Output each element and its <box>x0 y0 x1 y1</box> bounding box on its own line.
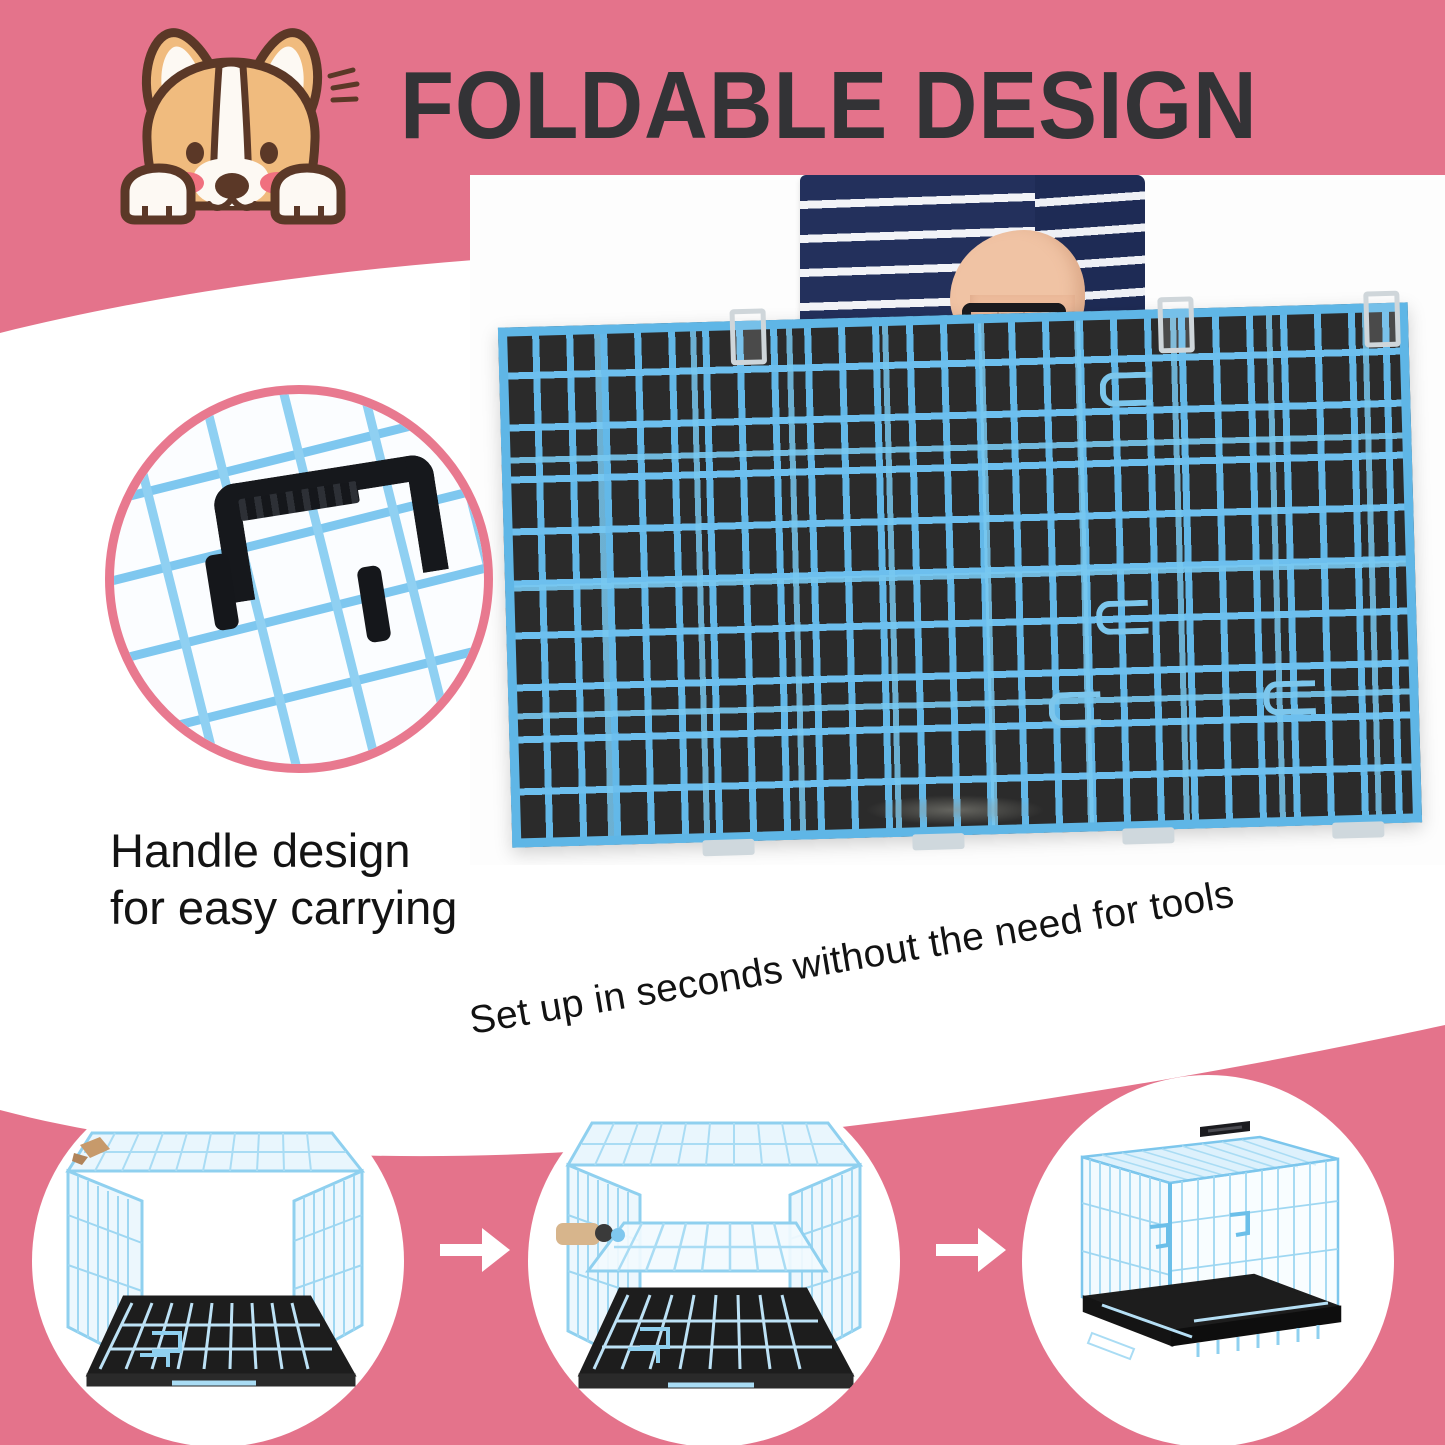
crate-latch <box>729 308 767 365</box>
step-crate-assembled <box>1022 1075 1394 1445</box>
crate-door-hook <box>1099 372 1152 407</box>
corgi-dog-logo <box>95 20 370 230</box>
step-crate-unfolded-open <box>32 1075 404 1445</box>
arrow-step2-to-step3 <box>936 1222 1008 1278</box>
crate-door-hook <box>1048 691 1101 726</box>
crate-door-hook <box>1263 680 1316 715</box>
crate-foot <box>702 839 754 856</box>
crate-foot <box>1332 821 1384 838</box>
handle-caption-line-2: for easy carrying <box>110 879 530 936</box>
step-circle-2 <box>528 1075 900 1445</box>
step-circle-3 <box>1022 1075 1394 1445</box>
crate-latch <box>1157 296 1195 353</box>
crate-shadow <box>865 795 1045 825</box>
handle-caption-line-1: Handle design <box>110 822 530 879</box>
step-crate-door-lifting <box>528 1075 900 1445</box>
handle-closeup-circle <box>105 385 493 773</box>
crate-door-hook <box>1096 600 1149 635</box>
step-circle-1 <box>32 1075 404 1445</box>
infographic-page: FOLDABLE DESIGN <box>0 0 1445 1445</box>
arrow-step1-to-step2 <box>440 1222 512 1278</box>
crate-outer-frame <box>498 302 1422 847</box>
crate-latch <box>1363 291 1401 348</box>
handle-caption: Handle design for easy carrying <box>110 822 530 937</box>
crate-foot <box>1122 827 1174 844</box>
hero-photo-person-carrying-crate <box>470 175 1445 865</box>
folded-crate <box>498 302 1422 847</box>
page-title: FOLDABLE DESIGN <box>400 58 1228 154</box>
crate-foot <box>912 833 964 850</box>
